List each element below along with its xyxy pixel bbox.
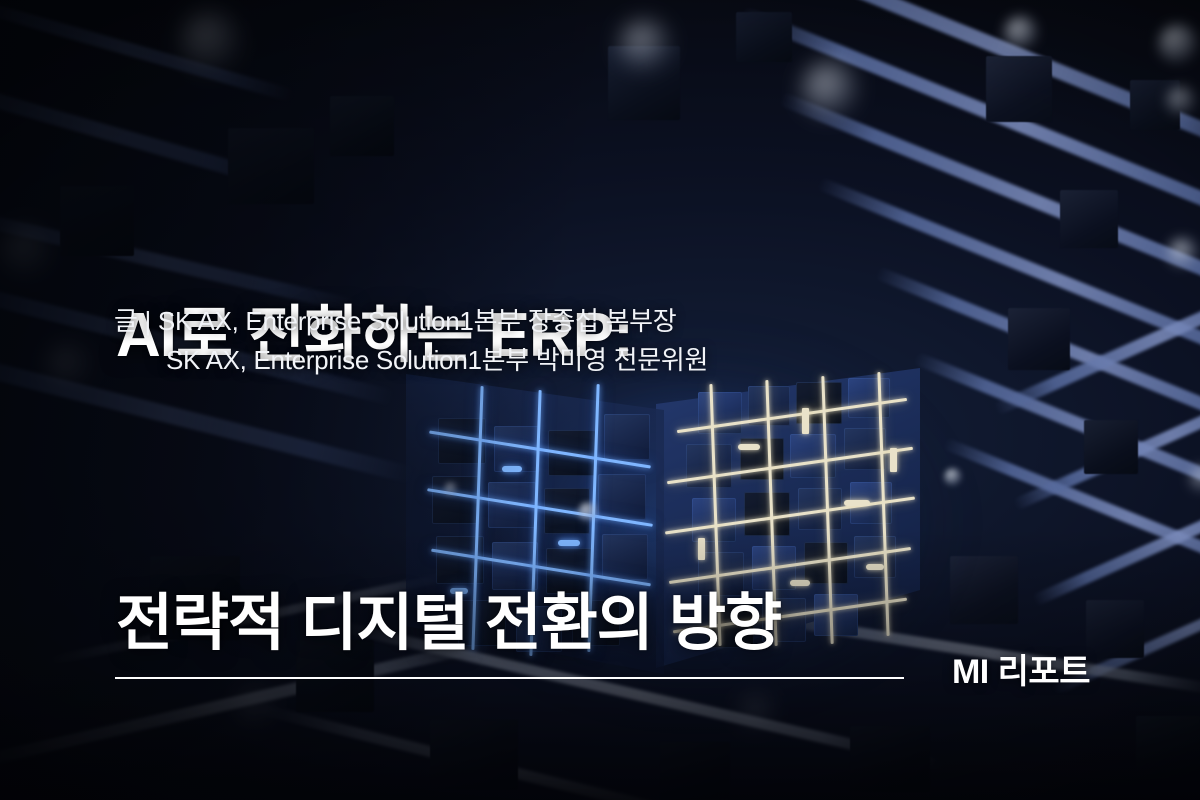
footer-divider: [115, 677, 904, 679]
poster-content: AI로 진화하는 ERP: 전략적 디지털 전환의 방향 글 | SK AX, …: [0, 0, 1200, 800]
title-line-2: 전략적 디지털 전환의 방향: [116, 576, 1016, 672]
byline-line-1: 글 | SK AX, Enterprise Solution1본부 장종섭 본부…: [114, 302, 708, 341]
byline: 글 | SK AX, Enterprise Solution1본부 장종섭 본부…: [114, 302, 708, 380]
footer-brand-label: MI 리포트: [952, 652, 1090, 692]
byline-line-2: SK AX, Enterprise Solution1본부 박미영 전문위원: [114, 341, 708, 380]
footer: MI 리포트: [115, 659, 1090, 699]
report-cover-poster: AI로 진화하는 ERP: 전략적 디지털 전환의 방향 글 | SK AX, …: [0, 0, 1200, 800]
